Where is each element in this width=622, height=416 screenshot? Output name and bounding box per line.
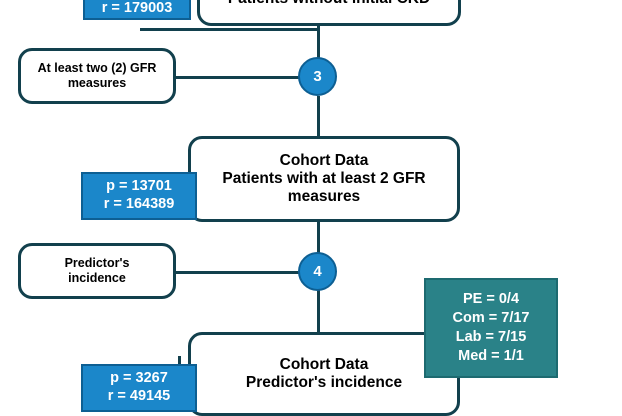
node-label-line2: measures: [27, 76, 167, 91]
junction-step-3[interactable]: 3: [298, 57, 337, 96]
stats-lab: Lab = 7/15: [456, 328, 527, 347]
node-criteria-predictor-incidence[interactable]: Predictor's incidence: [18, 243, 176, 299]
node-criteria-gfr-measures[interactable]: At least two (2) GFR measures: [18, 48, 176, 104]
node-cohort-data-predictor-incidence[interactable]: Cohort Data Predictor's incidence: [188, 332, 460, 416]
stats-pe: PE = 0/4: [463, 290, 519, 309]
stats-panel-predictor-breakdown: PE = 0/4 Com = 7/17 Lab = 7/15 Med = 1/1: [424, 278, 558, 378]
node-label-line1: Predictor's: [27, 256, 167, 271]
stats-chip-top: p = 14513 r = 179003: [83, 0, 191, 20]
stats-records: r = 49145: [108, 388, 171, 406]
connector-top-chip-stem: [140, 28, 320, 31]
node-label-line1: Cohort Data: [197, 152, 451, 170]
stats-records: r = 164389: [104, 196, 175, 214]
node-label-line2: Predictor's incidence: [197, 374, 451, 392]
junction-label: 3: [313, 68, 321, 85]
connector-predictor-criteria-to-step4: [175, 271, 300, 274]
node-patients-without-initial-ckd[interactable]: Patients without initial CKD: [197, 0, 461, 26]
node-label-line1: At least two (2) GFR: [27, 61, 167, 76]
junction-step-4[interactable]: 4: [298, 252, 337, 291]
node-label-line1: Patients without initial CKD: [206, 0, 452, 8]
stats-patients: p = 3267: [110, 370, 168, 388]
node-label-line2: Patients with at least 2 GFR: [197, 170, 451, 188]
stats-chip-cohort-predictor: p = 3267 r = 49145: [81, 364, 197, 412]
node-cohort-data-gfr[interactable]: Cohort Data Patients with at least 2 GFR…: [188, 136, 460, 222]
node-label-line3: measures: [197, 188, 451, 206]
connector-step3-to-cohort-gfr: [317, 96, 320, 136]
connector-gfr-criteria-to-step3: [175, 76, 300, 79]
node-label-line1: Cohort Data: [197, 356, 451, 374]
stats-patients: p = 13701: [106, 178, 172, 196]
stats-chip-cohort-gfr: p = 13701 r = 164389: [81, 172, 197, 220]
connector-cohort-gfr-to-step4: [317, 222, 320, 254]
stats-com: Com = 7/17: [453, 309, 530, 328]
connector-step4-to-cohort-predictor: [317, 290, 320, 332]
flowchart-canvas: Patients without initial CKD At least tw…: [0, 0, 622, 400]
junction-label: 4: [313, 263, 321, 280]
stats-records: r = 179003: [102, 0, 173, 18]
node-label-line2: incidence: [27, 271, 167, 286]
stats-med: Med = 1/1: [458, 347, 524, 366]
